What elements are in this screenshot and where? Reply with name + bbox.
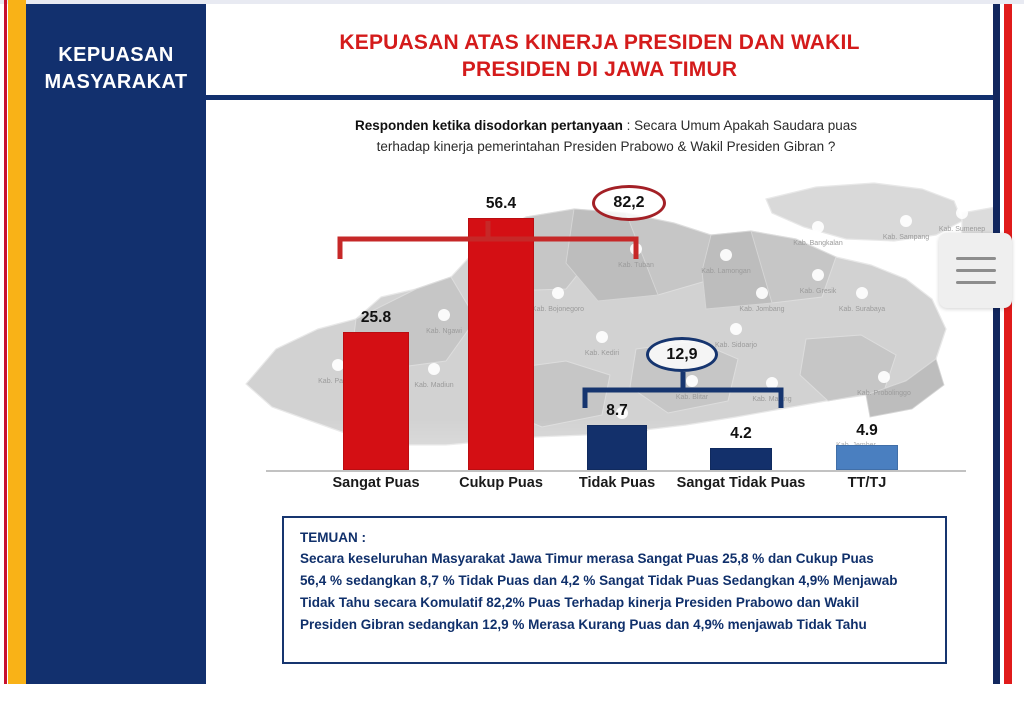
page-title-line1: KEPUASAN ATAS KINERJA PRESIDEN DAN WAKIL [226,30,973,57]
callout-kurang-puas-total: 12,9 [646,337,718,372]
bar-plot: 25.8 Sangat Puas 56.4 Cukup Puas 8.7 Tid… [206,169,993,504]
question-line1: Responden ketika disodorkan pertanyaan :… [266,116,946,137]
sidebar-title: KEPUASAN MASYARAKAT [26,42,206,96]
bar-sangat-puas[interactable] [343,332,409,470]
bar-value-sangat-tidak-puas: 4.2 [696,425,786,443]
findings-label: TEMUAN : [300,530,929,545]
callout-puas-total: 82,2 [592,185,666,221]
page-title: KEPUASAN ATAS KINERJA PRESIDEN DAN WAKIL… [226,30,973,83]
bar-label-tt-tj: TT/TJ [787,475,947,491]
question-text: Responden ketika disodorkan pertanyaan :… [266,116,946,157]
footer: ARCI RESEARCH Arci Academy arci_academy [0,684,1024,724]
hamburger-bar-1 [956,257,996,260]
bar-tt-tj[interactable] [836,445,898,470]
question-rest: : Secara Umum Apakah Saudara puas [627,118,857,133]
bar-value-cukup-puas: 56.4 [456,195,546,213]
callout-kurang-puas-total-value: 12,9 [666,346,697,364]
chart-baseline [266,470,966,472]
sidebar-panel: KEPUASAN MASYARAKAT [26,4,206,684]
findings-line-3: Tidak Tahu secara Komulatif 82,2% Puas T… [300,592,929,614]
bar-value-sangat-puas: 25.8 [331,309,421,327]
sidebar-title-line2: MASYARAKAT [26,69,206,96]
hamburger-bar-2 [956,269,996,272]
bar-sangat-tidak-puas[interactable] [710,448,772,470]
findings-line-2: 56,4 % sedangkan 8,7 % Tidak Puas dan 4,… [300,570,929,592]
left-red-stripe [4,0,7,695]
slide-root: KEPUASAN MASYARAKAT KEPUASAN ATAS KINERJ… [0,0,1024,724]
bar-tidak-puas[interactable] [587,425,647,470]
findings-box: TEMUAN : Secara keseluruhan Masyarakat J… [282,516,947,664]
hamburger-menu-icon[interactable] [939,233,1012,308]
content-card: KEPUASAN ATAS KINERJA PRESIDEN DAN WAKIL… [206,4,993,684]
findings-body: Secara keseluruhan Masyarakat Jawa Timur… [300,548,929,635]
title-divider [206,95,993,100]
page-title-line2: PRESIDEN DI JAWA TIMUR [226,57,973,84]
right-red-stripe [1004,4,1012,690]
bracket-kurang-puas [581,372,811,410]
bar-value-tt-tj: 4.9 [822,422,912,440]
sidebar-title-line1: KEPUASAN [26,42,206,69]
left-yellow-stripe [8,0,26,695]
question-lead: Responden ketika disodorkan pertanyaan [355,118,623,133]
findings-line-1: Secara keseluruhan Masyarakat Jawa Timur… [300,548,929,570]
findings-line-4: Presiden Gibran sedangkan 12,9 % Merasa … [300,614,929,636]
chart: Kab. Tuban Kab. Lamongan Kab. Bojonegoro… [206,169,993,504]
callout-puas-total-value: 82,2 [613,194,644,212]
question-line2: terhadap kinerja pemerintahan Presiden P… [266,137,946,158]
right-navy-stripe [993,4,1000,690]
hamburger-bar-3 [956,281,996,284]
bracket-puas [336,221,656,261]
